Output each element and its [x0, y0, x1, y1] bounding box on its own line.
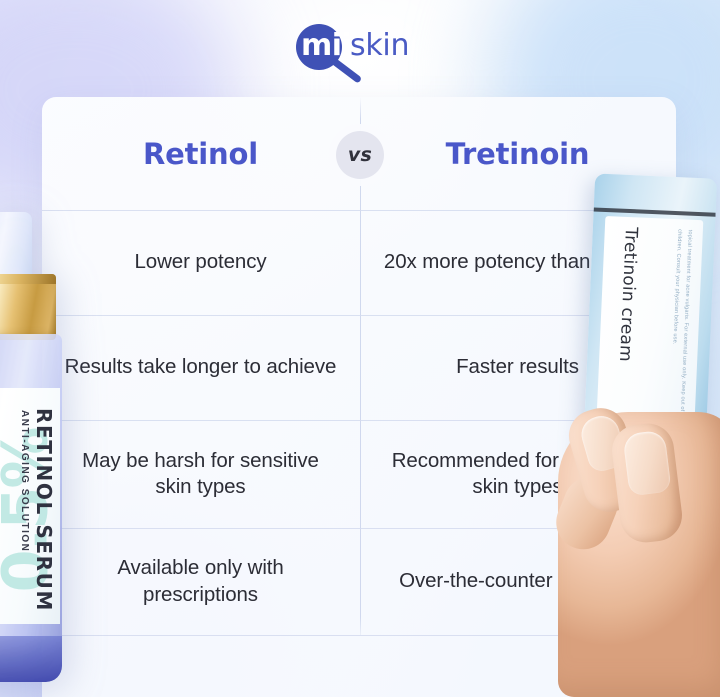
column-title-tretinoin: Tretinoin: [446, 137, 590, 171]
brand-logo: mii skin: [0, 21, 720, 73]
bottle-liquid: [0, 636, 62, 682]
bottle-body: 0.5% RETINOL SERUM ANTI-AGING SOLUTION: [0, 334, 62, 682]
cream-name-text: Tretinoin cream: [615, 227, 641, 363]
bottle-label: 0.5% RETINOL SERUM ANTI-AGING SOLUTION: [0, 388, 60, 624]
logo-text-mii: mii: [301, 28, 351, 63]
versus-label: vs: [348, 144, 372, 166]
cell-text: Lower potency: [134, 249, 266, 275]
column-title-retinol: Retinol: [143, 137, 258, 171]
infographic-canvas: mii skin Retinol Tretinoin Lower potency…: [0, 0, 720, 697]
tretinoin-cream-image: Tretinoin cream topical treatment for ac…: [554, 176, 720, 697]
logo-text-skin: skin: [350, 28, 409, 63]
versus-badge: vs: [336, 131, 384, 179]
header-cell-retinol: Retinol: [42, 97, 359, 210]
dropper-top: [0, 212, 32, 282]
retinol-serum-bottle-image: 0.5% RETINOL SERUM ANTI-AGING SOLUTION: [0, 212, 112, 684]
serum-subtitle-text: ANTI-AGING SOLUTION: [19, 410, 30, 552]
bottle-gold-cap: [0, 274, 56, 340]
serum-name-text: RETINOL SERUM: [32, 408, 56, 612]
